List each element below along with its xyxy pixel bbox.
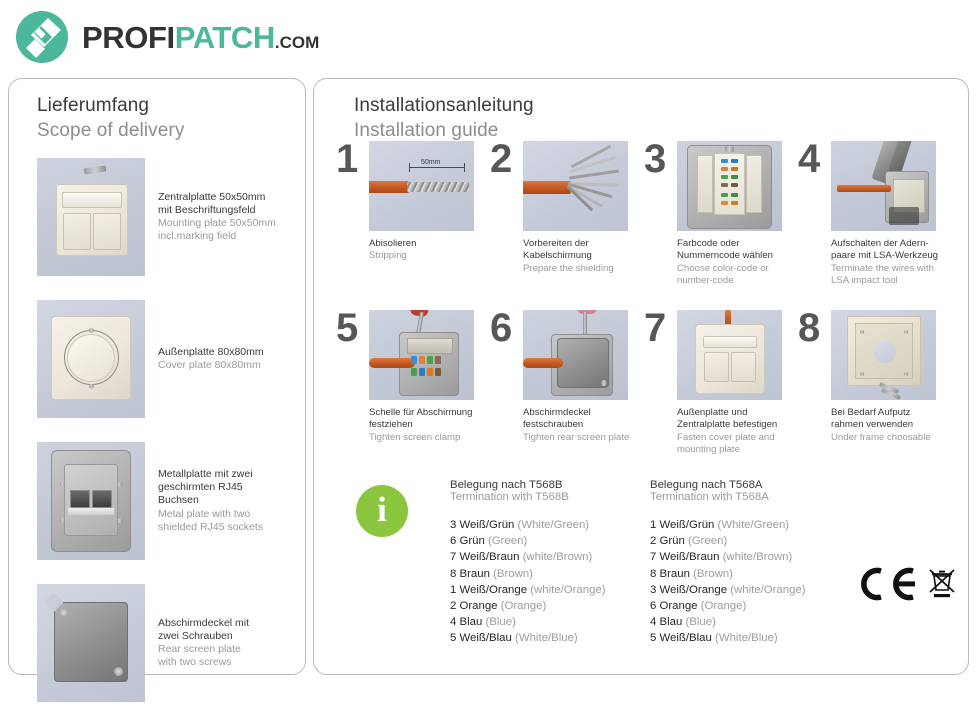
step-caption-de-1: Vorbereiten der (523, 238, 639, 250)
pin-de: Weiß/Grün (660, 519, 715, 531)
caption-en-2: incl.marking field (158, 230, 276, 243)
pin-de: Weiß/Blau (460, 632, 512, 644)
stripped-cable-photo: 50mm (369, 141, 474, 231)
ce-mark-icon (857, 567, 919, 601)
pin-line: 4 Blau (Blue) (450, 614, 650, 630)
caption-de-3: Buchsen (158, 494, 263, 507)
brand-name-patch: PATCH (175, 20, 275, 55)
scope-title-de: Lieferumfang (37, 93, 184, 118)
caption-en-1: Cover plate 80x80mm (158, 359, 264, 372)
pin-num: 6 (650, 600, 656, 612)
pin-line: 7 Weiß/Braun (white/Brown) (650, 549, 850, 565)
pin-line: 8 Braun (Brown) (650, 566, 850, 582)
pinout-head-en: Termination with T568A (650, 491, 850, 503)
step-number: 7 (644, 310, 677, 347)
delivery-item: Metallplatte mit zwei geschirmten RJ45 B… (37, 437, 287, 565)
step-caption-de-1: Abschirmdeckel (523, 407, 639, 419)
scope-of-delivery-title: Lieferumfang Scope of delivery (37, 93, 184, 143)
screen-clamp-photo (369, 310, 474, 400)
delivery-item: Abschirmdeckel mit zwei Schrauben Rear s… (37, 579, 287, 707)
pin-de: Orange (660, 600, 698, 612)
rj45-plug-glyph-icon (14, 9, 70, 65)
steps-row-2: 5 (336, 310, 952, 457)
step-caption-de-2: Zentralplatte befestigen (677, 419, 793, 431)
delivery-item-caption: Zentralplatte 50x50mm mit Beschriftungsf… (158, 191, 276, 244)
step-3: 3 (644, 141, 798, 288)
step-caption-de-1: Schelle für Abschirmung (369, 407, 485, 419)
step-caption-en-1: Tighten screen clamp (369, 432, 485, 444)
pin-en: (Blue) (486, 616, 516, 628)
pin-en: (Green) (488, 535, 527, 547)
pin-line: 8 Braun (Brown) (450, 566, 650, 582)
weee-crossed-bin-icon (927, 567, 957, 601)
delivery-item: Außenplatte 80x80mm Cover plate 80x80mm (37, 295, 287, 423)
pin-num: 2 (450, 600, 456, 612)
installation-guide-title: Installationsanleitung Installation guid… (354, 93, 534, 143)
pin-en: (Brown) (693, 568, 733, 580)
step-caption-de-2: rahmen verwenden (831, 419, 947, 431)
step-caption: Vorbereiten der Kabelschirmung Prepare t… (523, 238, 639, 275)
step-caption-en-1: Under frame choosable (831, 432, 947, 444)
pin-num: 4 (650, 616, 656, 628)
pin-de: Weiß/Orange (660, 584, 728, 596)
measurement-label: 50mm (421, 159, 440, 166)
caption-de-2: zwei Schrauben (158, 630, 249, 643)
pin-de: Braun (660, 568, 690, 580)
pinout-head-en: Termination with T568B (450, 491, 650, 503)
brand-name-dotcom: .COM (275, 33, 319, 52)
pin-line: 6 Orange (Orange) (650, 598, 850, 614)
pin-de: Orange (460, 600, 498, 612)
pin-num: 7 (650, 551, 656, 563)
pinout-columns: Belegung nach T568B Termination with T56… (450, 479, 956, 647)
caption-de-2: geschirmten RJ45 (158, 481, 263, 494)
step-4: 4 Aufschalten der Adern- paare mit LSA-W… (798, 141, 952, 288)
pin-line: 1 Weiß/Grün (White/Green) (650, 517, 850, 533)
step-caption-de-2: Kabelschirmung (523, 250, 639, 262)
pin-line: 3 Weiß/Grün (White/Green) (450, 517, 650, 533)
color-code-module-photo (677, 141, 782, 231)
caption-en-1: Metal plate with two (158, 508, 263, 521)
delivery-item-caption: Außenplatte 80x80mm Cover plate 80x80mm (158, 346, 264, 372)
step-caption-en-1: Tighten rear screen plate (523, 432, 639, 444)
caption-en-2: with two screws (158, 656, 249, 669)
lsa-tool-photo (831, 141, 936, 231)
pin-de: Blau (660, 616, 683, 628)
pin-en: (White/Green) (718, 519, 790, 531)
step-caption-de-2: festschrauben (523, 419, 639, 431)
step-number: 2 (490, 141, 523, 178)
pin-line: 4 Blau (Blue) (650, 614, 850, 630)
pin-en: (Brown) (493, 568, 533, 580)
pinout-heading: Belegung nach T568A Termination with T56… (650, 479, 850, 503)
step-caption-en-1: Terminate the wires with (831, 263, 947, 275)
pinout-info-block: i Belegung nach T568B Termination with T… (356, 479, 956, 647)
pin-line: 1 Weiß/Orange (white/Orange) (450, 582, 650, 598)
pin-line: 3 Weiß/Orange (white/Orange) (650, 582, 850, 598)
caption-de-1: Zentralplatte 50x50mm (158, 191, 276, 204)
pin-en: (White/Blue) (715, 632, 778, 644)
pin-en: (white/Orange) (730, 584, 805, 596)
pin-num: 5 (650, 632, 656, 644)
brand-name-profi: PROFI (82, 20, 175, 55)
delivery-item-caption: Abschirmdeckel mit zwei Schrauben Rear s… (158, 617, 249, 670)
pinout-head-de: Belegung nach T568B (450, 479, 650, 491)
delivery-item-list: Zentralplatte 50x50mm mit Beschriftungsf… (37, 153, 287, 707)
pin-num: 3 (650, 584, 656, 596)
pin-en: (white/Orange) (530, 584, 605, 596)
caption-en-1: Rear screen plate (158, 643, 249, 656)
step-caption-de-2: paare mit LSA-Werkzeug (831, 250, 947, 262)
certification-marks (857, 567, 957, 601)
profipatch-logo-icon (14, 9, 70, 65)
step-caption-en-1: Choose color-code or (677, 263, 793, 275)
step-6: 6 Abschirmdeckel festschrauben (490, 310, 644, 457)
pin-num: 1 (650, 519, 656, 531)
step-caption-en-2: mounting plate (677, 444, 793, 456)
pin-en: (Orange) (701, 600, 747, 612)
pin-de: Braun (460, 568, 490, 580)
step-caption-en-1: Prepare the shielding (523, 263, 639, 275)
rear-screen-plate-photo (37, 584, 145, 702)
pin-en: (Green) (688, 535, 727, 547)
pin-de: Grün (660, 535, 685, 547)
pin-num: 7 (450, 551, 456, 563)
installation-steps: 1 50mm Abisolieren Stripping (336, 141, 952, 457)
pin-en: (white/Brown) (523, 551, 593, 563)
step-number: 1 (336, 141, 369, 178)
caption-de-2: mit Beschriftungsfeld (158, 204, 276, 217)
pin-num: 1 (450, 584, 456, 596)
caption-de-1: Außenplatte 80x80mm (158, 346, 264, 359)
step-number: 4 (798, 141, 831, 178)
step-number: 5 (336, 310, 369, 347)
step-caption-en-1: Stripping (369, 250, 485, 262)
step-caption-de-2: Nummerncode wählen (677, 250, 793, 262)
pinout-column-t568b: Belegung nach T568B Termination with T56… (450, 479, 650, 647)
pin-en: (white/Brown) (723, 551, 793, 563)
step-caption-de-1: Abisolieren (369, 238, 485, 250)
guide-title-de: Installationsanleitung (354, 93, 534, 118)
pin-line: 2 Grün (Green) (650, 533, 850, 549)
pin-num: 8 (650, 568, 656, 580)
step-caption: Abschirmdeckel festschrauben Tighten rea… (523, 407, 639, 444)
pin-num: 2 (650, 535, 656, 547)
pin-de: Blau (460, 616, 483, 628)
step-caption: Bei Bedarf Aufputz rahmen verwenden Unde… (831, 407, 947, 444)
pin-de: Weiß/Braun (460, 551, 520, 563)
step-caption-de-1: Farbcode oder (677, 238, 793, 250)
pin-num: 5 (450, 632, 456, 644)
pin-en: (White/Blue) (515, 632, 578, 644)
caption-en-1: Mounting plate 50x50mm (158, 217, 276, 230)
step-caption-en-1: Fasten cover plate and (677, 432, 793, 444)
step-caption-en-2: LSA impact tool (831, 275, 947, 287)
mounted-outlet-photo (677, 310, 782, 400)
pinout-list: 1 Weiß/Grün (White/Green) 2 Grün (Green)… (650, 517, 850, 647)
pin-num: 4 (450, 616, 456, 628)
scope-of-delivery-panel: Lieferumfang Scope of delivery Zentralpl… (8, 78, 306, 675)
pin-num: 3 (450, 519, 456, 531)
caption-de-1: Metallplatte mit zwei (158, 468, 263, 481)
pin-en: (Blue) (686, 616, 716, 628)
surface-frame-photo (831, 310, 936, 400)
step-caption: Farbcode oder Nummerncode wählen Choose … (677, 238, 793, 288)
metal-plate-rj45-photo (37, 442, 145, 560)
delivery-item-caption: Metallplatte mit zwei geschirmten RJ45 B… (158, 468, 263, 534)
pinout-list: 3 Weiß/Grün (White/Green) 6 Grün (Green)… (450, 517, 650, 647)
step-caption: Abisolieren Stripping (369, 238, 485, 263)
caption-en-2: shielded RJ45 sockets (158, 521, 263, 534)
pin-de: Weiß/Blau (660, 632, 712, 644)
pin-de: Weiß/Braun (660, 551, 720, 563)
step-caption: Schelle für Abschirmung festziehen Tight… (369, 407, 485, 444)
step-caption-en-2: number-code (677, 275, 793, 287)
pin-de: Weiß/Orange (460, 584, 528, 596)
steps-row-1: 1 50mm Abisolieren Stripping (336, 141, 952, 288)
pin-line: 5 Weiß/Blau (White/Blue) (650, 630, 850, 646)
pin-num: 6 (450, 535, 456, 547)
info-glyph: i (356, 485, 408, 537)
pin-de: Grün (460, 535, 485, 547)
info-circle-icon: i (356, 485, 408, 537)
brand-wordmark: PROFIPATCH.COM (82, 22, 319, 53)
cable-shield-photo (523, 141, 628, 231)
step-number: 3 (644, 141, 677, 178)
pinout-head-de: Belegung nach T568A (650, 479, 850, 491)
pin-line: 6 Grün (Green) (450, 533, 650, 549)
brand-header: PROFIPATCH.COM (14, 6, 319, 68)
central-plate-photo (37, 158, 145, 276)
rear-plate-screw-photo (523, 310, 628, 400)
step-caption: Aufschalten der Adern- paare mit LSA-Wer… (831, 238, 947, 288)
step-7: 7 Außenplatte und Zentralplatte befestig… (644, 310, 798, 457)
pinout-column-t568a: Belegung nach T568A Termination with T56… (650, 479, 850, 647)
step-number: 8 (798, 310, 831, 347)
pin-num: 8 (450, 568, 456, 580)
pinout-heading: Belegung nach T568B Termination with T56… (450, 479, 650, 503)
step-number: 6 (490, 310, 523, 347)
scope-title-en: Scope of delivery (37, 118, 184, 143)
cover-plate-photo (37, 300, 145, 418)
step-8: 8 Bei Bedarf Auf (798, 310, 952, 457)
delivery-item: Zentralplatte 50x50mm mit Beschriftungsf… (37, 153, 287, 281)
step-2: 2 Vorbereiten der (490, 141, 644, 288)
pin-line: 7 Weiß/Braun (white/Brown) (450, 549, 650, 565)
pin-de: Weiß/Grün (460, 519, 515, 531)
caption-de-1: Abschirmdeckel mit (158, 617, 249, 630)
step-caption-de-1: Außenplatte und (677, 407, 793, 419)
pin-line: 5 Weiß/Blau (White/Blue) (450, 630, 650, 646)
pin-line: 2 Orange (Orange) (450, 598, 650, 614)
pin-en: (Orange) (501, 600, 547, 612)
step-1: 1 50mm Abisolieren Stripping (336, 141, 490, 288)
step-caption-de-1: Aufschalten der Adern- (831, 238, 947, 250)
step-caption-de-2: festziehen (369, 419, 485, 431)
installation-guide-panel: Installationsanleitung Installation guid… (313, 78, 969, 675)
pin-en: (White/Green) (518, 519, 590, 531)
step-caption: Außenplatte und Zentralplatte befestigen… (677, 407, 793, 457)
step-5: 5 (336, 310, 490, 457)
step-caption-de-1: Bei Bedarf Aufputz (831, 407, 947, 419)
